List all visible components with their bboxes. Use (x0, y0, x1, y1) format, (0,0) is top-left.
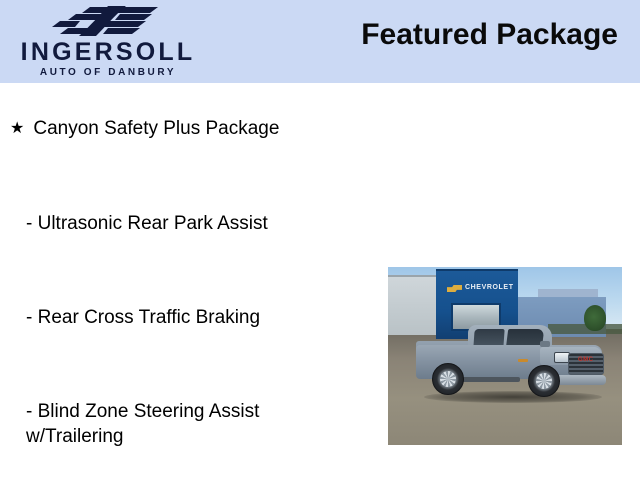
truck-side-marker (518, 359, 528, 362)
feature-item: - Ultrasonic Rear Park Assist (26, 211, 356, 236)
page-title: Featured Package (361, 18, 618, 51)
package-title-row: ★ Canyon Safety Plus Package (10, 117, 279, 141)
feature-item: - Rear Cross Traffic Braking (26, 305, 356, 330)
feature-item: - Blind Zone Steering Assist w/Trailerin… (26, 399, 356, 449)
truck-rear-wheel (432, 363, 464, 395)
package-title-label: Canyon Safety Plus Package (33, 117, 279, 141)
gmc-badge: GMC (578, 357, 594, 363)
page-content: ★ Canyon Safety Plus Package - Ultrasoni… (0, 83, 640, 480)
page-header: INGERSOLL AUTO OF DANBURY Featured Packa… (0, 0, 640, 83)
brand-tagline: AUTO OF DANBURY (0, 68, 216, 78)
dealership-sign-text: CHEVROLET (465, 284, 514, 291)
dealer-brand-block: INGERSOLL AUTO OF DANBURY (0, 0, 240, 83)
vehicle-photo: CHEVROLET GMC (388, 267, 622, 445)
brand-name: INGERSOLL (0, 40, 216, 65)
truck-front-wheel (528, 365, 560, 397)
vehicle-truck: GMC (410, 319, 608, 411)
star-bullet-icon: ★ (10, 117, 24, 141)
vehicle-photo-scene: CHEVROLET GMC (388, 267, 622, 445)
truck-mirror (540, 341, 550, 347)
ingersoll-wing-logo-icon (46, 6, 162, 36)
